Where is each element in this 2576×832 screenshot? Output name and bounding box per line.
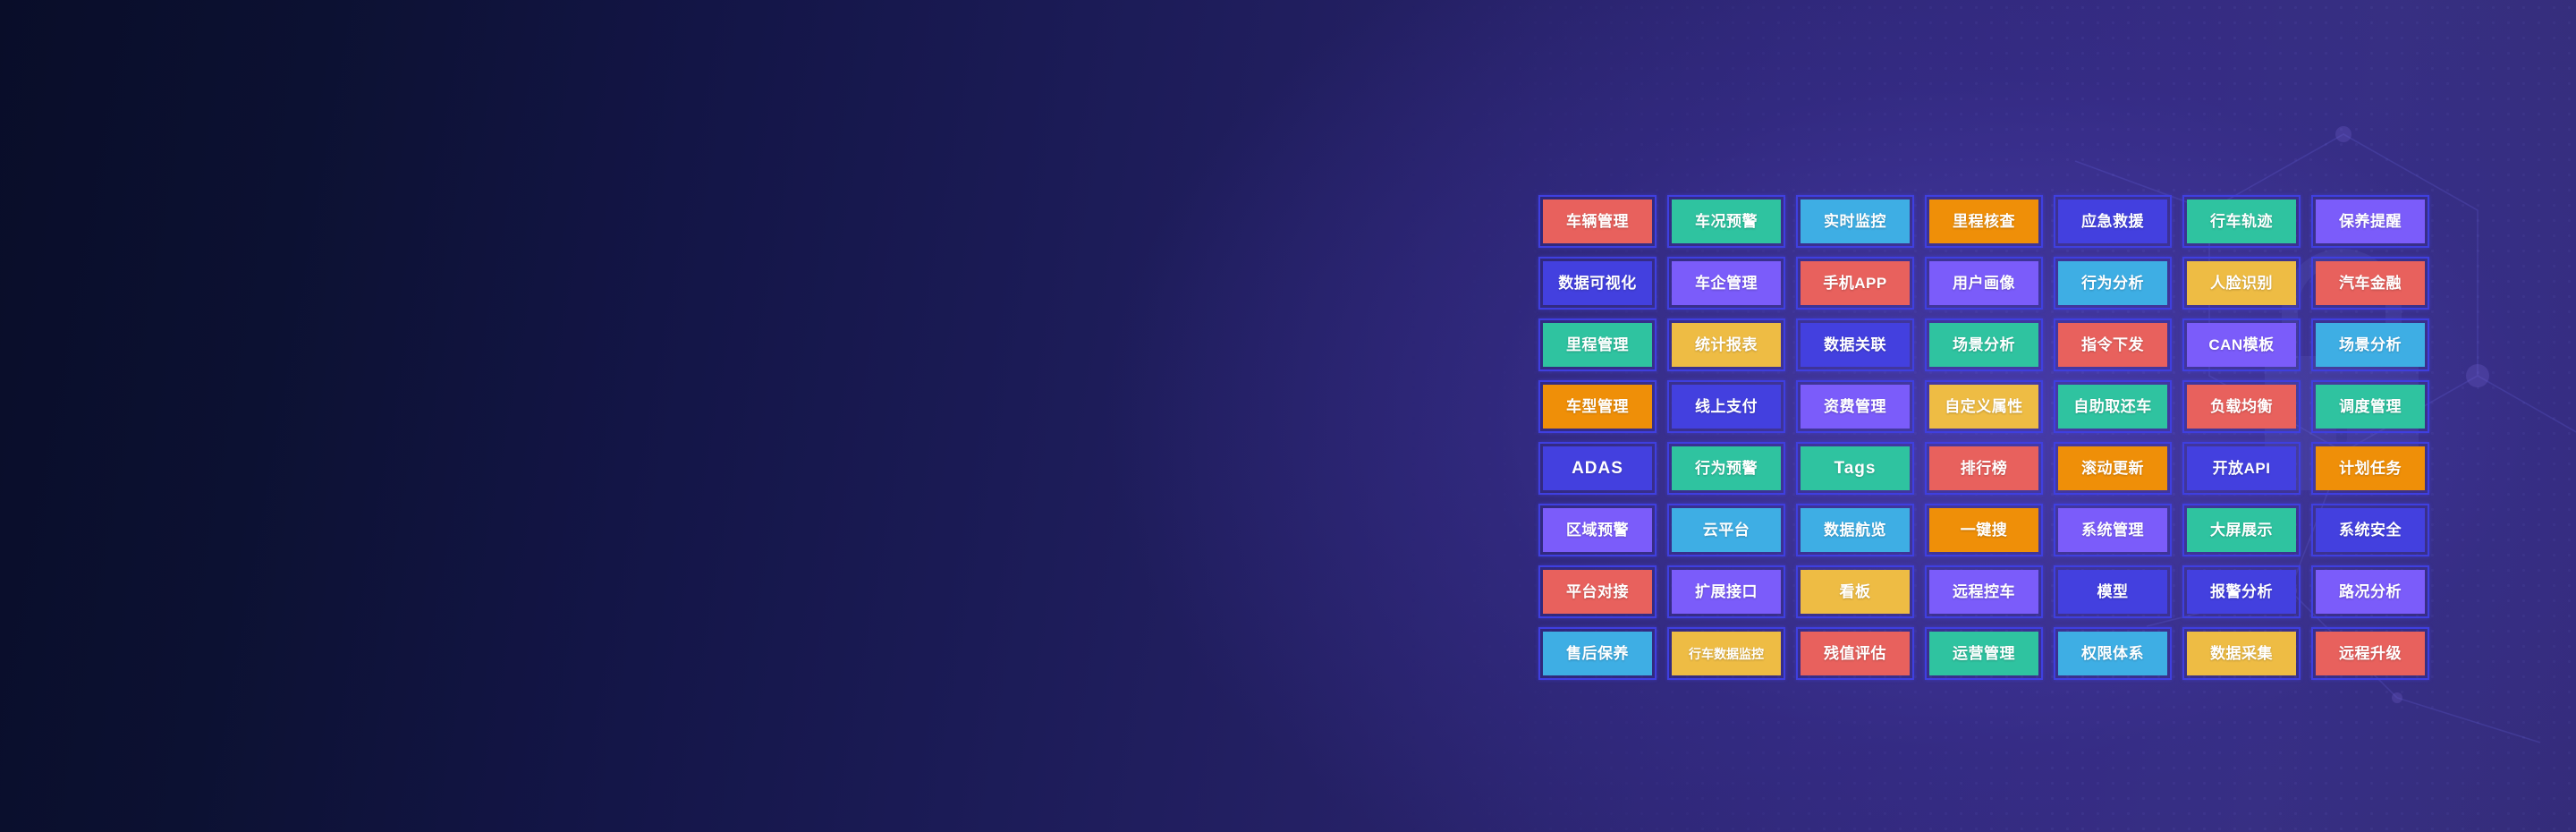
feature-tile[interactable]: 看板 (1791, 561, 1919, 623)
tile-face: 售后保养 (1543, 632, 1652, 675)
tile-face: 系统管理 (2058, 508, 2167, 552)
tile-frame: 运营管理 (1925, 627, 2043, 680)
feature-tile[interactable]: 行为分析 (2048, 252, 2177, 314)
tile-label: 区域预警 (1566, 522, 1629, 538)
tile-frame: 自定义属性 (1925, 380, 2043, 433)
tile-frame: 统计报表 (1667, 318, 1785, 371)
tile-label: 远程升级 (2339, 646, 2402, 661)
tile-face: 一键搜 (1929, 508, 2038, 552)
feature-tile[interactable]: 实时监控 (1791, 191, 1919, 252)
tile-label: 系统安全 (2339, 522, 2402, 538)
tile-frame: 里程管理 (1538, 318, 1657, 371)
tile-frame: ADAS (1538, 442, 1657, 495)
tile-face: 行为预警 (1672, 446, 1781, 490)
tile-frame: 开放API (2182, 442, 2301, 495)
tile-label: 系统管理 (2081, 522, 2144, 538)
feature-tile[interactable]: 报警分析 (2177, 561, 2306, 623)
feature-tile[interactable]: 车企管理 (1662, 252, 1791, 314)
feature-tile[interactable]: ADAS (1533, 437, 1662, 499)
tile-face: 路况分析 (2316, 570, 2425, 614)
tile-label: 调度管理 (2339, 399, 2402, 414)
feature-tile[interactable]: 用户画像 (1919, 252, 2048, 314)
tile-face: 远程控车 (1929, 570, 2038, 614)
tile-frame: 车型管理 (1538, 380, 1657, 433)
tile-label: Tags (1835, 460, 1877, 477)
tile-frame: 数据采集 (2182, 627, 2301, 680)
feature-tile[interactable]: 车辆管理 (1533, 191, 1662, 252)
tile-label: 扩展接口 (1695, 584, 1758, 599)
tile-frame: 区域预警 (1538, 504, 1657, 556)
tile-label: 大屏展示 (2210, 522, 2273, 538)
tile-label: 售后保养 (1566, 646, 1629, 661)
feature-tile[interactable]: 里程核查 (1919, 191, 2048, 252)
feature-tile[interactable]: 车况预警 (1662, 191, 1791, 252)
tile-face: 汽车金融 (2316, 261, 2425, 305)
tile-frame: 扩展接口 (1667, 565, 1785, 618)
tile-frame: 大屏展示 (2182, 504, 2301, 556)
tile-label: 车型管理 (1566, 399, 1629, 414)
tile-label: 模型 (2097, 584, 2129, 599)
tile-frame: 滚动更新 (2054, 442, 2172, 495)
feature-tile[interactable]: 一键搜 (1919, 499, 2048, 561)
tile-label: 报警分析 (2210, 584, 2273, 599)
tile-label: 远程控车 (1953, 584, 2015, 599)
feature-tile[interactable]: 负载均衡 (2177, 376, 2306, 437)
tile-frame: 路况分析 (2311, 565, 2429, 618)
tile-label: 滚动更新 (2081, 461, 2144, 476)
tile-frame: 残值评估 (1796, 627, 1914, 680)
tile-label: 应急救援 (2081, 214, 2144, 229)
feature-tile[interactable]: 人脸识别 (2177, 252, 2306, 314)
feature-tile[interactable]: 数据关联 (1791, 314, 1919, 376)
tile-label: 行车轨迹 (2210, 214, 2273, 229)
tile-face: 保养提醒 (2316, 200, 2425, 243)
tile-face: 场景分析 (2316, 323, 2425, 367)
tile-label: 统计报表 (1695, 337, 1758, 352)
tile-frame: 系统安全 (2311, 504, 2429, 556)
tile-face: 报警分析 (2187, 570, 2296, 614)
feature-tile[interactable]: 自助取还车 (2048, 376, 2177, 437)
tile-face: 车型管理 (1543, 385, 1652, 429)
feature-tile[interactable]: 残值评估 (1791, 623, 1919, 684)
tile-frame: 数据关联 (1796, 318, 1914, 371)
tile-face: 资费管理 (1801, 385, 1910, 429)
tile-face: 统计报表 (1672, 323, 1781, 367)
feature-tile[interactable]: 行为预警 (1662, 437, 1791, 499)
tile-label: 自定义属性 (1945, 399, 2023, 414)
tile-label: 路况分析 (2339, 584, 2402, 599)
tile-face: 行为分析 (2058, 261, 2167, 305)
tile-label: 实时监控 (1824, 214, 1886, 229)
tile-frame: 云平台 (1667, 504, 1785, 556)
tile-frame: 人脸识别 (2182, 257, 2301, 310)
tile-frame: CAN模板 (2182, 318, 2301, 371)
feature-tile[interactable]: 区域预警 (1533, 499, 1662, 561)
tile-label: 数据采集 (2210, 646, 2273, 661)
tile-frame: 实时监控 (1796, 195, 1914, 248)
tile-frame: 报警分析 (2182, 565, 2301, 618)
feature-tile[interactable]: 场景分析 (2306, 314, 2435, 376)
tile-frame: 线上支付 (1667, 380, 1785, 433)
tile-frame: 远程控车 (1925, 565, 2043, 618)
feature-tile[interactable]: 滚动更新 (2048, 437, 2177, 499)
tile-frame: 行车数据监控 (1667, 627, 1785, 680)
tile-label: 保养提醒 (2339, 214, 2402, 229)
tile-label: 里程管理 (1566, 337, 1629, 352)
tile-frame: 用户画像 (1925, 257, 2043, 310)
tile-face: 排行榜 (1929, 446, 2038, 490)
tile-label: 车企管理 (1695, 276, 1758, 291)
feature-tile[interactable]: 排行榜 (1919, 437, 2048, 499)
tile-face: 数据可视化 (1543, 261, 1652, 305)
tile-label: 一键搜 (1961, 522, 2008, 538)
feature-tile[interactable]: 远程升级 (2306, 623, 2435, 684)
tile-label: 人脸识别 (2210, 276, 2273, 291)
feature-tile[interactable]: 计划任务 (2306, 437, 2435, 499)
tile-frame: 资费管理 (1796, 380, 1914, 433)
feature-tile[interactable]: 模型 (2048, 561, 2177, 623)
tile-label: 线上支付 (1695, 399, 1758, 414)
tile-frame: 看板 (1796, 565, 1914, 618)
feature-tile[interactable]: 线上支付 (1662, 376, 1791, 437)
tile-frame: 权限体系 (2054, 627, 2172, 680)
tile-frame: 负载均衡 (2182, 380, 2301, 433)
tile-face: 滚动更新 (2058, 446, 2167, 490)
feature-tile[interactable]: CAN模板 (2177, 314, 2306, 376)
tile-face: 云平台 (1672, 508, 1781, 552)
tile-label: 看板 (1840, 584, 1871, 599)
feature-tile[interactable]: 行车轨迹 (2177, 191, 2306, 252)
tile-frame: 行车轨迹 (2182, 195, 2301, 248)
feature-tile[interactable]: Tags (1791, 437, 1919, 499)
tile-frame: 模型 (2054, 565, 2172, 618)
tile-frame: 远程升级 (2311, 627, 2429, 680)
feature-tile[interactable]: 运营管理 (1919, 623, 2048, 684)
tile-frame: 指令下发 (2054, 318, 2172, 371)
tile-face: 权限体系 (2058, 632, 2167, 675)
tile-label: 场景分析 (1953, 337, 2015, 352)
tile-label: 自助取还车 (2073, 399, 2152, 414)
feature-tile[interactable]: 云平台 (1662, 499, 1791, 561)
tile-face: 车况预警 (1672, 200, 1781, 243)
tile-frame: 自助取还车 (2054, 380, 2172, 433)
feature-tile[interactable]: 保养提醒 (2306, 191, 2435, 252)
tile-label: CAN模板 (2208, 337, 2274, 352)
tile-frame: 数据可视化 (1538, 257, 1657, 310)
tile-face: 人脸识别 (2187, 261, 2296, 305)
tile-face: 自定义属性 (1929, 385, 2038, 429)
tile-frame: 车企管理 (1667, 257, 1785, 310)
feature-tile[interactable]: 大屏展示 (2177, 499, 2306, 561)
tile-label: 手机APP (1823, 276, 1886, 291)
tile-label: 车辆管理 (1566, 214, 1629, 229)
tile-face: 数据采集 (2187, 632, 2296, 675)
tile-label: 用户画像 (1953, 276, 2015, 291)
tile-face: 里程管理 (1543, 323, 1652, 367)
feature-tile[interactable]: 汽车金融 (2306, 252, 2435, 314)
feature-tile[interactable]: 数据可视化 (1533, 252, 1662, 314)
tile-label: 数据可视化 (1558, 276, 1637, 291)
tile-face: 模型 (2058, 570, 2167, 614)
tile-face: CAN模板 (2187, 323, 2296, 367)
tile-label: 开放API (2213, 461, 2271, 476)
feature-tile[interactable]: 远程控车 (1919, 561, 2048, 623)
tile-label: 行为分析 (2081, 276, 2144, 291)
tile-face: 大屏展示 (2187, 508, 2296, 552)
tile-face: 负载均衡 (2187, 385, 2296, 429)
tile-label: 运营管理 (1953, 646, 2015, 661)
tile-label: 汽车金融 (2339, 276, 2402, 291)
feature-tile[interactable]: 自定义属性 (1919, 376, 2048, 437)
tile-label: 平台对接 (1566, 584, 1629, 599)
tile-frame: 行为预警 (1667, 442, 1785, 495)
tile-label: 排行榜 (1961, 461, 2008, 476)
tile-face: 数据关联 (1801, 323, 1910, 367)
feature-tile[interactable]: 售后保养 (1533, 623, 1662, 684)
tile-frame: 应急救援 (2054, 195, 2172, 248)
tile-face: 计划任务 (2316, 446, 2425, 490)
tile-frame: 车辆管理 (1538, 195, 1657, 248)
tile-frame: 调度管理 (2311, 380, 2429, 433)
tile-frame: 售后保养 (1538, 627, 1657, 680)
tile-face: 里程核查 (1929, 200, 2038, 243)
tile-face: 系统安全 (2316, 508, 2425, 552)
feature-tile[interactable]: 平台对接 (1533, 561, 1662, 623)
tile-frame: 汽车金融 (2311, 257, 2429, 310)
tile-face: 扩展接口 (1672, 570, 1781, 614)
tile-label: 权限体系 (2081, 646, 2144, 661)
feature-tile[interactable]: 数据采集 (2177, 623, 2306, 684)
tile-frame: 排行榜 (1925, 442, 2043, 495)
feature-tile[interactable]: 数据航览 (1791, 499, 1919, 561)
tile-face: 指令下发 (2058, 323, 2167, 367)
tile-label: 负载均衡 (2210, 399, 2273, 414)
feature-tile[interactable]: 扩展接口 (1662, 561, 1791, 623)
tile-frame: 计划任务 (2311, 442, 2429, 495)
tile-face: 车辆管理 (1543, 200, 1652, 243)
feature-tile[interactable]: 指令下发 (2048, 314, 2177, 376)
tile-frame: 场景分析 (1925, 318, 2043, 371)
tile-frame: 车况预警 (1667, 195, 1785, 248)
tile-face: 行车数据监控 (1672, 632, 1781, 675)
tile-frame: 一键搜 (1925, 504, 2043, 556)
tile-frame: 保养提醒 (2311, 195, 2429, 248)
tile-label: 数据关联 (1824, 337, 1886, 352)
tile-label: 行车数据监控 (1689, 648, 1764, 660)
tile-face: 线上支付 (1672, 385, 1781, 429)
feature-tile[interactable]: 系统安全 (2306, 499, 2435, 561)
feature-tile[interactable]: 行车数据监控 (1662, 623, 1791, 684)
tile-face: 区域预警 (1543, 508, 1652, 552)
feature-tile[interactable]: 资费管理 (1791, 376, 1919, 437)
tile-label: 计划任务 (2339, 461, 2402, 476)
tile-label: ADAS (1572, 460, 1623, 477)
tile-face: ADAS (1543, 446, 1652, 490)
tile-face: 应急救援 (2058, 200, 2167, 243)
tile-label: 云平台 (1703, 522, 1750, 538)
feature-tile[interactable]: 里程管理 (1533, 314, 1662, 376)
feature-tile-grid: 车辆管理车况预警实时监控里程核查应急救援行车轨迹保养提醒数据可视化车企管理手机A… (1533, 191, 2435, 684)
tile-face: 行车轨迹 (2187, 200, 2296, 243)
feature-tile[interactable]: 手机APP (1791, 252, 1919, 314)
tile-label: 场景分析 (2339, 337, 2402, 352)
tile-frame: 平台对接 (1538, 565, 1657, 618)
tile-face: 残值评估 (1801, 632, 1910, 675)
tile-label: 行为预警 (1695, 461, 1758, 476)
feature-tile[interactable]: 路况分析 (2306, 561, 2435, 623)
tile-face: 用户画像 (1929, 261, 2038, 305)
tile-label: 残值评估 (1824, 646, 1886, 661)
tile-label: 车况预警 (1695, 214, 1758, 229)
tile-face: 手机APP (1801, 261, 1910, 305)
feature-tile[interactable]: 应急救援 (2048, 191, 2177, 252)
tile-face: 看板 (1801, 570, 1910, 614)
tile-frame: 系统管理 (2054, 504, 2172, 556)
tile-face: 开放API (2187, 446, 2296, 490)
tile-label: 数据航览 (1824, 522, 1886, 538)
tile-face: 运营管理 (1929, 632, 2038, 675)
tile-frame: 手机APP (1796, 257, 1914, 310)
tile-face: Tags (1801, 446, 1910, 490)
feature-tile[interactable]: 场景分析 (1919, 314, 2048, 376)
tile-face: 调度管理 (2316, 385, 2425, 429)
tile-face: 实时监控 (1801, 200, 1910, 243)
tile-frame: Tags (1796, 442, 1914, 495)
tile-label: 资费管理 (1824, 399, 1886, 414)
feature-tile[interactable]: 车型管理 (1533, 376, 1662, 437)
feature-tile[interactable]: 统计报表 (1662, 314, 1791, 376)
tile-frame: 行为分析 (2054, 257, 2172, 310)
tile-frame: 场景分析 (2311, 318, 2429, 371)
feature-tile[interactable]: 系统管理 (2048, 499, 2177, 561)
tile-face: 场景分析 (1929, 323, 2038, 367)
feature-tile[interactable]: 调度管理 (2306, 376, 2435, 437)
tile-frame: 里程核查 (1925, 195, 2043, 248)
tile-face: 车企管理 (1672, 261, 1781, 305)
tile-face: 远程升级 (2316, 632, 2425, 675)
feature-tile[interactable]: 权限体系 (2048, 623, 2177, 684)
tile-face: 自助取还车 (2058, 385, 2167, 429)
tile-label: 里程核查 (1953, 214, 2015, 229)
tile-face: 数据航览 (1801, 508, 1910, 552)
tile-face: 平台对接 (1543, 570, 1652, 614)
tile-label: 指令下发 (2081, 337, 2144, 352)
tile-frame: 数据航览 (1796, 504, 1914, 556)
feature-tile[interactable]: 开放API (2177, 437, 2306, 499)
